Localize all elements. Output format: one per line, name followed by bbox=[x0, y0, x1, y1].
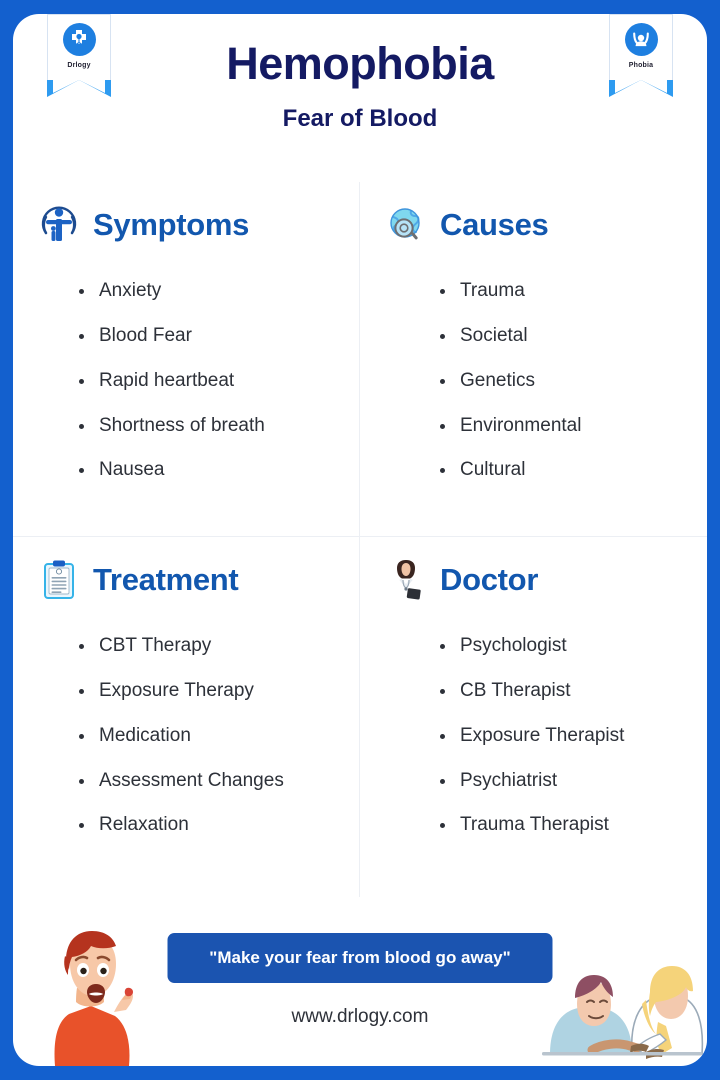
list-item: Exposure Therapist bbox=[438, 725, 691, 747]
section-header: Causes bbox=[376, 200, 691, 250]
title-block: Hemophobia Fear of Blood bbox=[13, 14, 707, 133]
list-item: Trauma Therapist bbox=[438, 814, 691, 836]
badge-label: Drlogy bbox=[67, 62, 90, 69]
list-item: Anxiety bbox=[77, 280, 343, 302]
quote-text: "Make your fear from blood go away" bbox=[209, 948, 510, 968]
page-subtitle: Fear of Blood bbox=[13, 105, 707, 133]
section-list: Trauma Societal Genetics Environmental C… bbox=[376, 280, 691, 481]
section-symptoms: Symptoms Anxiety Blood Fear Rapid heartb… bbox=[13, 182, 360, 537]
logo-badge-drlogy: Drlogy bbox=[47, 14, 111, 106]
clipboard-icon bbox=[37, 558, 81, 602]
list-item: Relaxation bbox=[77, 814, 343, 836]
section-title: Symptoms bbox=[93, 207, 249, 243]
list-item: CBT Therapy bbox=[77, 635, 343, 657]
list-item: Medication bbox=[77, 725, 343, 747]
list-item: Exposure Therapy bbox=[77, 680, 343, 702]
list-item: Cultural bbox=[438, 459, 691, 481]
section-list: Anxiety Blood Fear Rapid heartbeat Short… bbox=[29, 280, 343, 481]
section-list: Psychologist CB Therapist Exposure Thera… bbox=[376, 635, 691, 836]
section-treatment: Treatment CBT Therapy Exposure Therapy M… bbox=[13, 537, 360, 897]
badge-body: Drlogy bbox=[47, 14, 111, 80]
sections-grid: Symptoms Anxiety Blood Fear Rapid heartb… bbox=[13, 182, 707, 897]
poster-header: Drlogy Phobia bbox=[13, 14, 707, 174]
section-causes: Causes Trauma Societal Genetics Environm… bbox=[360, 182, 707, 537]
list-item: Nausea bbox=[77, 459, 343, 481]
section-doctor: Doctor Psychologist CB Therapist Exposur… bbox=[360, 537, 707, 897]
phobia-person-badge-icon bbox=[625, 23, 658, 56]
list-item: Genetics bbox=[438, 370, 691, 392]
list-item: Environmental bbox=[438, 415, 691, 437]
poster-footer: "Make your fear from blood go away" www.… bbox=[13, 911, 707, 1066]
list-item: Assessment Changes bbox=[77, 770, 343, 792]
infographic-poster: Drlogy Phobia bbox=[0, 0, 720, 1080]
badge-ribbon bbox=[609, 80, 673, 106]
list-item: Shortness of breath bbox=[77, 415, 343, 437]
section-header: Treatment bbox=[29, 555, 343, 605]
list-item: Blood Fear bbox=[77, 325, 343, 347]
section-title: Causes bbox=[440, 207, 549, 243]
list-item: Rapid heartbeat bbox=[77, 370, 343, 392]
section-title: Treatment bbox=[93, 562, 238, 598]
badge-body: Phobia bbox=[609, 14, 673, 80]
poster-card: Drlogy Phobia bbox=[13, 14, 707, 1066]
logo-badge-phobia: Phobia bbox=[609, 14, 673, 106]
scared-man-bleeding-finger-illustration bbox=[21, 916, 171, 1066]
female-doctor-photo-icon bbox=[384, 558, 428, 602]
globe-magnifier-icon bbox=[384, 203, 428, 247]
list-item: Trauma bbox=[438, 280, 691, 302]
badge-label: Phobia bbox=[629, 62, 654, 69]
quote-banner: "Make your fear from blood go away" bbox=[168, 933, 553, 983]
list-item: Societal bbox=[438, 325, 691, 347]
person-in-circle-icon bbox=[37, 203, 81, 247]
section-header: Symptoms bbox=[29, 200, 343, 250]
page-title: Hemophobia bbox=[13, 40, 707, 87]
section-list: CBT Therapy Exposure Therapy Medication … bbox=[29, 635, 343, 836]
badge-ribbon bbox=[47, 80, 111, 106]
section-header: Doctor bbox=[376, 555, 691, 605]
medical-cross-badge-icon bbox=[63, 23, 96, 56]
list-item: CB Therapist bbox=[438, 680, 691, 702]
section-title: Doctor bbox=[440, 562, 538, 598]
list-item: Psychologist bbox=[438, 635, 691, 657]
list-item: Psychiatrist bbox=[438, 770, 691, 792]
doctor-drawing-blood-illustration bbox=[532, 942, 707, 1062]
